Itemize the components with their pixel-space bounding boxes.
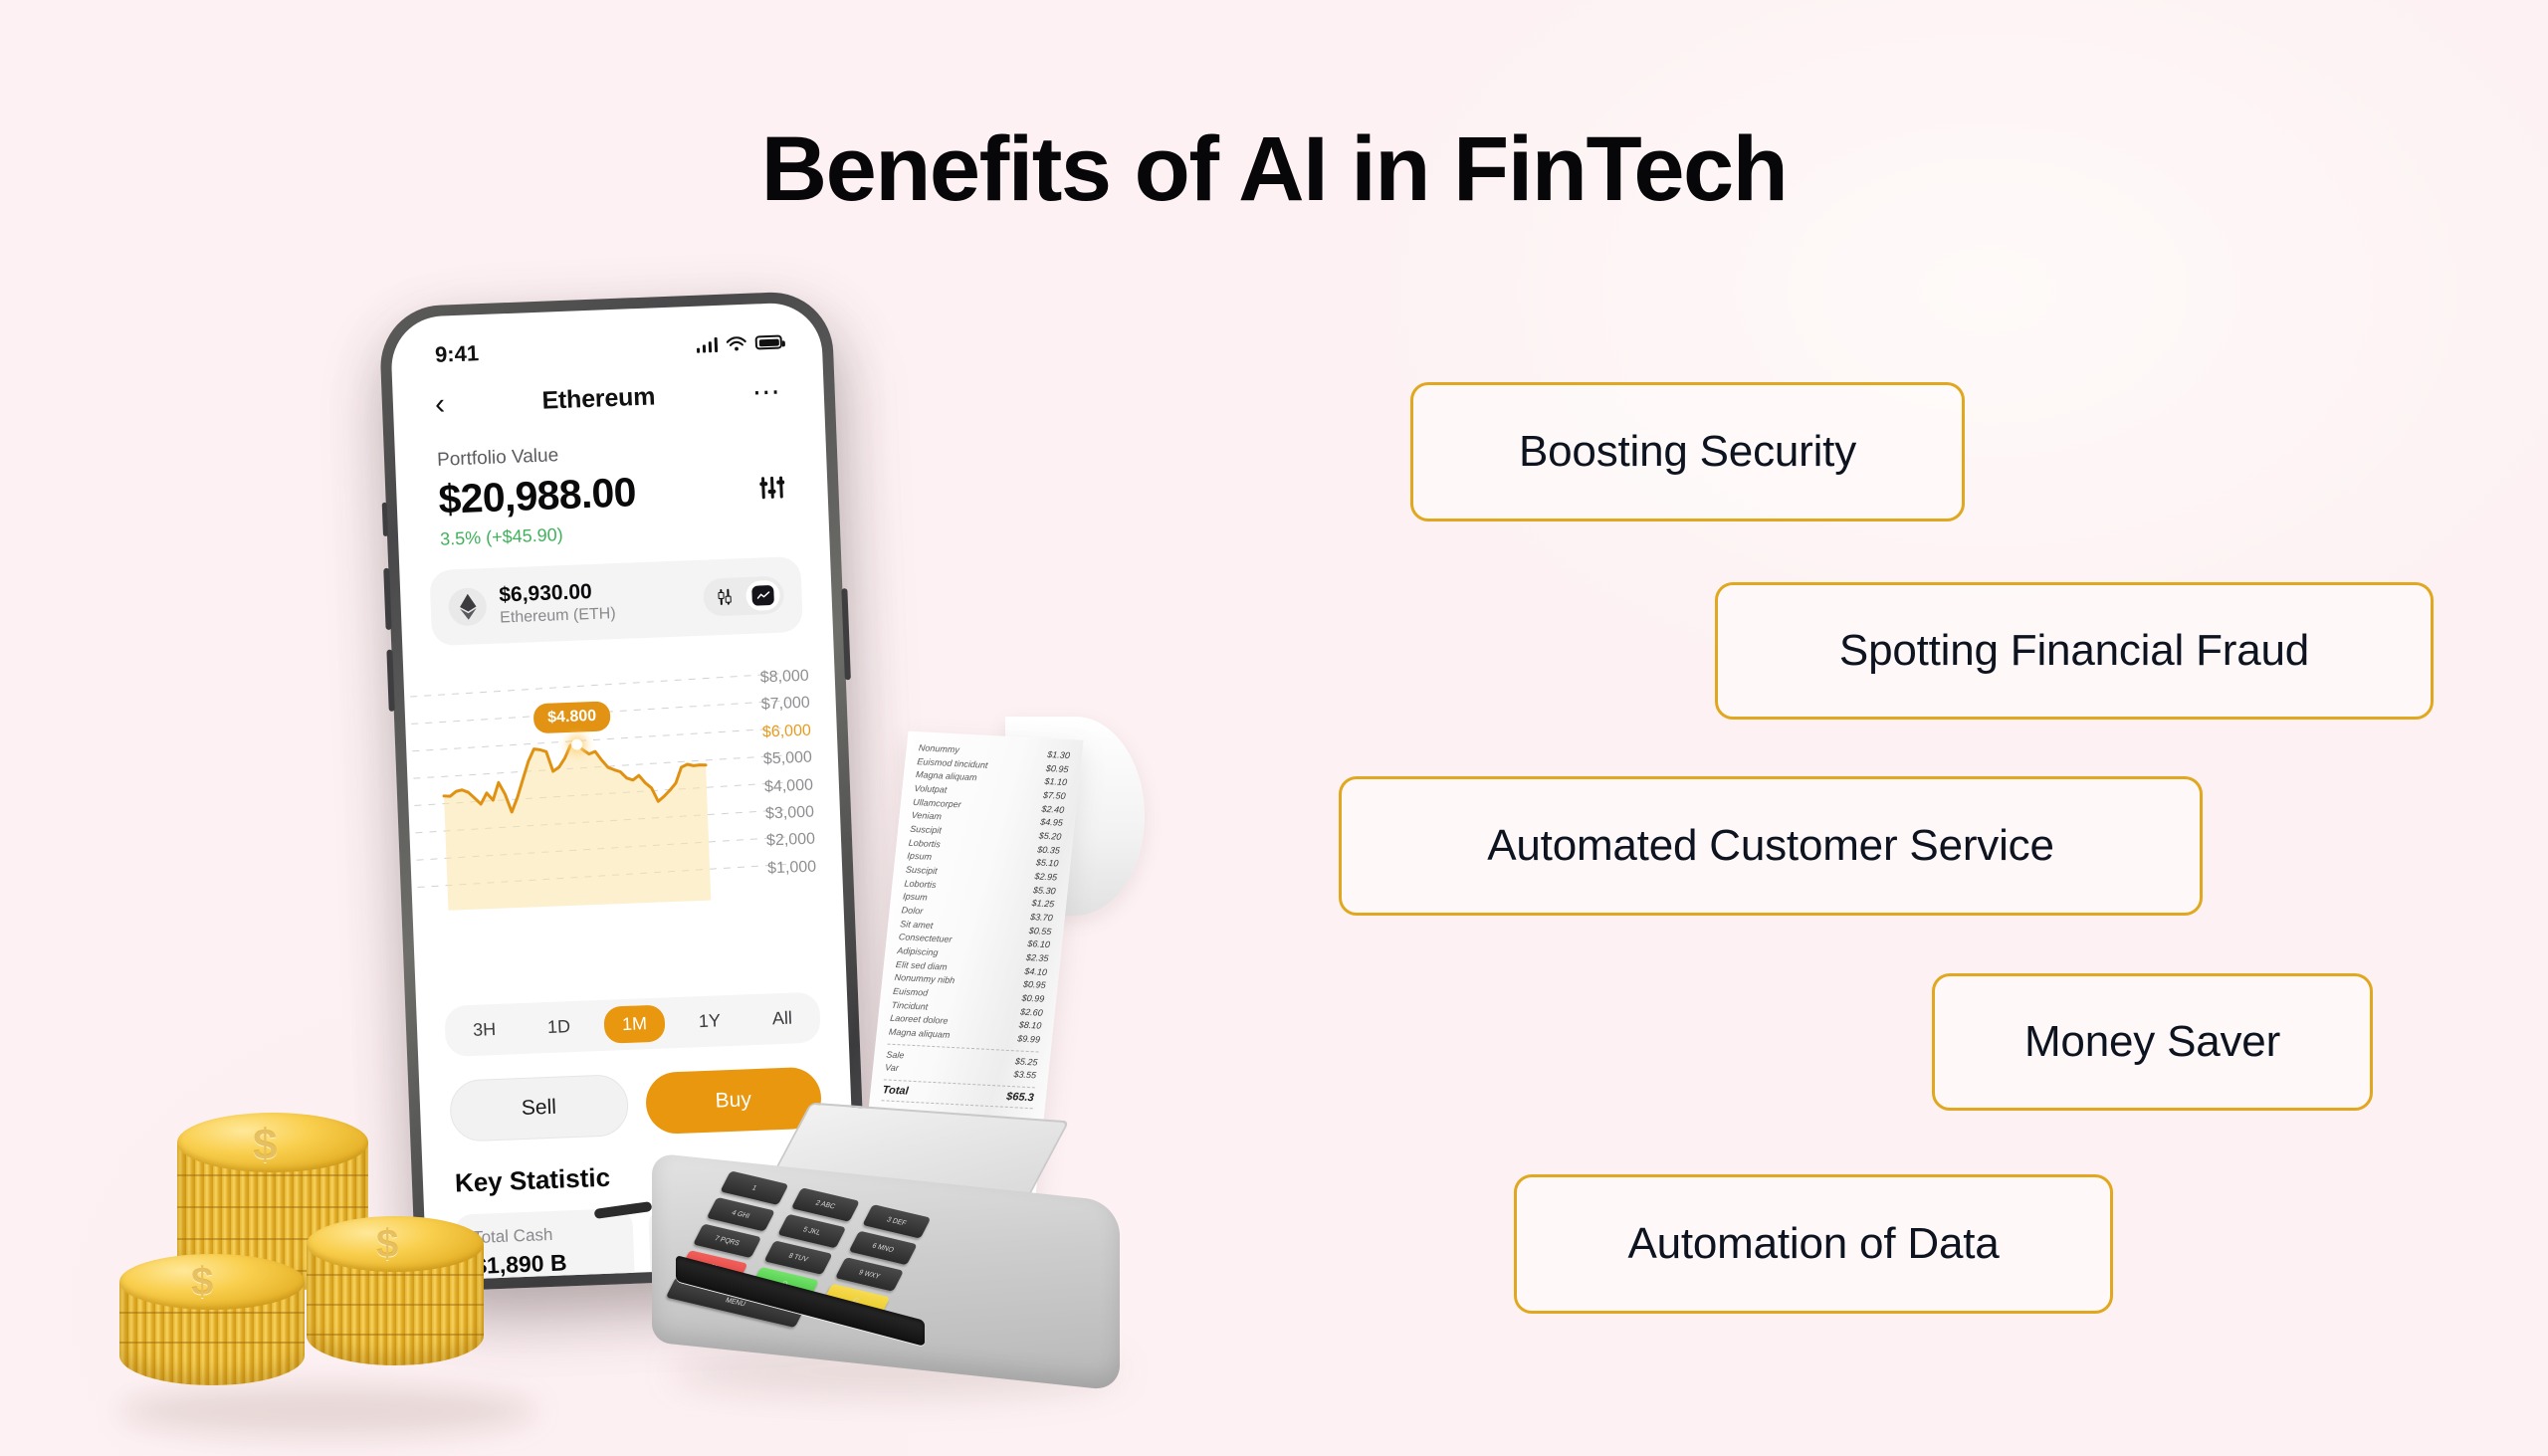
benefit-box-automated-customer-service[interactable]: Automated Customer Service [1339,776,2203,916]
chart-y-tick: $3,000 [765,803,815,823]
coin-price: $6,930.00 [499,580,592,607]
receipt-item-price: $1.30 [1047,748,1071,763]
receipt-item-price: $9.99 [1017,1033,1041,1048]
coin-name: Ethereum (ETH) [500,602,692,627]
receipt-item-price: $0.95 [1022,978,1046,993]
chart-y-tick: $6,000 [762,722,812,741]
nav-title: Ethereum [541,382,656,415]
more-options-icon[interactable]: ⋯ [751,383,782,401]
portfolio-section: Portfolio Value $20,988.00 3.5% (+$45.90… [394,405,830,552]
receipt-item-price: $1.25 [1031,898,1055,913]
receipt-item-price: $2.60 [1019,1005,1043,1020]
line-chart-icon[interactable] [745,580,780,611]
receipt-item-price: $3.55 [1013,1069,1037,1084]
phone-mute-switch [382,503,388,536]
receipt-item-price: $4.10 [1024,965,1048,980]
benefit-label: Automation of Data [1627,1219,1999,1269]
benefit-label: Boosting Security [1519,427,1856,477]
page-title: Benefits of AI in FinTech [0,117,2548,222]
portfolio-value: $20,988.00 [438,463,787,522]
chart-y-axis: $1,000$2,000$3,000$4,000$5,000$6,000$7,0… [717,648,821,987]
benefit-label: Spotting Financial Fraud [1839,626,2309,676]
coin-stack-front: $ [119,1254,305,1423]
receipt-item-price: $2.40 [1041,802,1065,817]
phone-power-button [841,588,851,680]
chart-y-tick: $4,000 [764,776,814,796]
candlestick-icon[interactable] [707,581,742,612]
receipt-item-label: Sale [886,1048,905,1063]
receipt-item-price: $5.25 [1014,1055,1038,1070]
receipt-item-price: $0.99 [1021,992,1045,1007]
receipt-item-label: Var [884,1062,899,1076]
receipt-item-price: $5.30 [1032,884,1056,899]
receipt-item-price: $7.50 [1042,789,1066,804]
chart-y-tick: $8,000 [759,668,809,688]
receipt-item-price: $6.10 [1027,937,1051,952]
receipt-item-label: Magna aliquam [888,1026,951,1043]
benefit-box-money-saver[interactable]: Money Saver [1932,973,2373,1111]
chart-y-tick: $5,000 [763,749,813,769]
receipt-total-label: Total [882,1084,909,1097]
range-tab-1m[interactable]: 1M [603,1004,665,1043]
receipt-item-price: $0.55 [1028,925,1052,939]
phone-volume-up-button [383,568,391,630]
coin-summary-card[interactable]: $6,930.00 Ethereum (ETH) [429,556,803,646]
chart-y-tick: $2,000 [766,831,816,851]
chart-y-tick: $7,000 [761,695,811,715]
benefit-box-spotting-financial-fraud[interactable]: Spotting Financial Fraud [1715,582,2434,720]
receipt-item-price: $4.95 [1039,816,1063,831]
dollar-sign-icon: $ [191,1260,213,1305]
chart-y-tick: $1,000 [767,858,817,878]
receipt-item-label: Ipsum [902,891,928,906]
pos-terminal-illustration: 12 ABC3 DEF4 GHI5 JKL6 MNO7 PQRS8 TUV9 W… [642,1120,1160,1408]
receipt-item-label: Dolor [901,904,924,919]
receipt-item-label: Ipsum [907,850,933,865]
gold-coins-illustration: $ $ $ [119,1095,547,1453]
receipt-item-price: $5.10 [1035,857,1059,872]
receipt-item-price: $3.70 [1029,911,1053,926]
coin-stack-right: $ [307,1216,484,1405]
receipt-item-price: $1.10 [1044,775,1068,790]
battery-icon [755,334,783,349]
benefit-label: Money Saver [2024,1017,2280,1067]
benefit-box-boosting-security[interactable]: Boosting Security [1410,382,1965,521]
receipt-total-value: $65.3 [1006,1091,1035,1104]
phone-volume-down-button [386,650,394,712]
chart-tooltip: $4.800 [533,701,611,733]
receipt-item-price: $0.95 [1045,762,1069,777]
sliders-icon[interactable] [759,476,786,499]
receipt-summary: Sale$5.25Var$3.55 [884,1048,1038,1083]
chart-type-toggle[interactable] [703,576,784,617]
back-icon[interactable]: ‹ [434,390,445,420]
pos-body: 12 ABC3 DEF4 GHI5 JKL6 MNO7 PQRS8 TUV9 W… [652,1152,1120,1390]
range-tab-3h[interactable]: 3H [454,1010,514,1049]
dollar-sign-icon: $ [253,1121,277,1170]
benefit-box-automation-of-data[interactable]: Automation of Data [1514,1174,2113,1314]
ethereum-icon [448,587,487,626]
receipt-items: Nonummy$1.30Euismod tincidunt$0.95Magna … [888,741,1070,1047]
range-tab-all[interactable]: All [753,999,810,1038]
time-range-tabs[interactable]: 3H1D1M1YAll [444,991,821,1056]
receipt-item-price: $2.35 [1025,951,1049,966]
receipt-item-price: $0.35 [1037,843,1061,858]
receipt-item-price: $8.10 [1018,1019,1042,1034]
receipt-item-price: $2.95 [1034,870,1058,885]
pos-keypad[interactable]: 12 ABC3 DEF4 GHI5 JKL6 MNO7 PQRS8 TUV9 W… [673,1170,1040,1356]
receipt-item-price: $5.20 [1038,830,1062,845]
price-chart[interactable]: $1,000$2,000$3,000$4,000$5,000$6,000$7,0… [403,647,847,999]
range-tab-1y[interactable]: 1Y [680,1002,739,1041]
cellular-signal-icon [696,336,718,352]
status-time: 9:41 [435,340,480,368]
benefit-label: Automated Customer Service [1487,821,2054,871]
wifi-icon [727,335,747,351]
dollar-sign-icon: $ [376,1222,398,1267]
range-tab-1d[interactable]: 1D [529,1007,588,1046]
